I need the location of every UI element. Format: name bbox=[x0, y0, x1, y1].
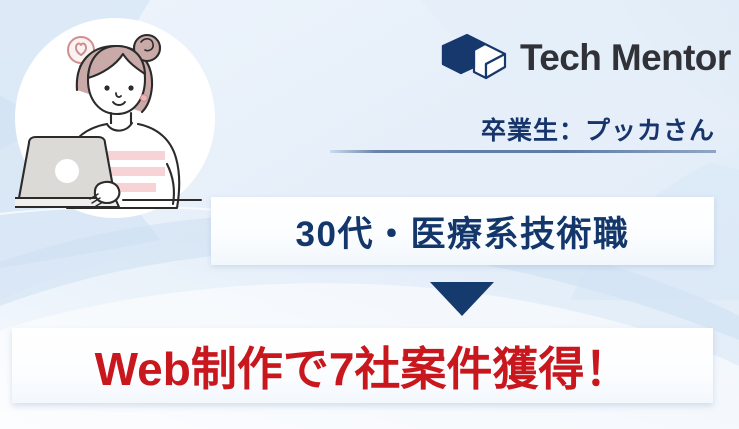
graduate-label: 卒業生：プッカさん bbox=[481, 111, 715, 147]
brand-logo[interactable]: Tech Mentor bbox=[441, 33, 731, 81]
graduate-divider bbox=[330, 150, 716, 153]
role-text: 30代・医療系技術職 bbox=[296, 206, 630, 257]
role-box: 30代・医療系技術職 bbox=[211, 197, 714, 265]
isometric-open-box-icon bbox=[441, 33, 507, 81]
triangle-down-icon bbox=[430, 282, 494, 316]
earring bbox=[141, 95, 148, 102]
brand-name: Tech Mentor bbox=[520, 39, 731, 76]
result-text: Web制作で7社案件獲得！ bbox=[95, 333, 631, 399]
woman-working-on-laptop-illustration bbox=[15, 18, 215, 218]
promo-banner: Tech Mentor 卒業生：プッカさん 30代・医療系技術職 Web制作で7… bbox=[0, 0, 739, 429]
eye-left bbox=[104, 85, 109, 90]
eye-right bbox=[128, 85, 133, 90]
illustration-container bbox=[15, 18, 215, 218]
result-box: Web制作で7社案件獲得！ bbox=[12, 328, 713, 403]
